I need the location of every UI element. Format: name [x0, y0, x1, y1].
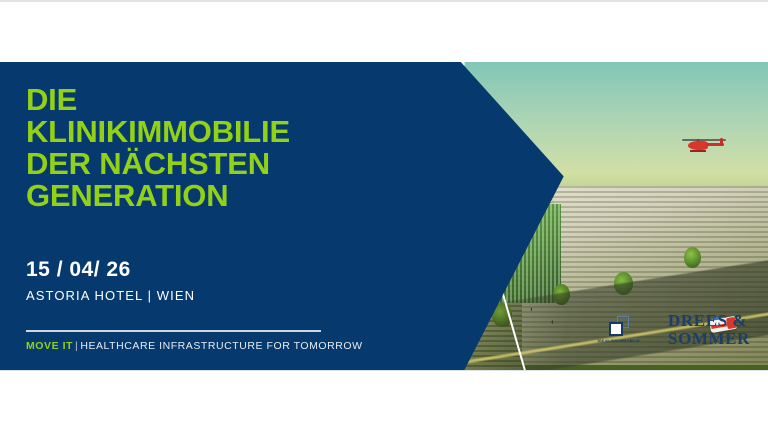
- tree: [684, 247, 701, 268]
- square-outline-front: [609, 322, 623, 336]
- logo-group: DIE KLINIKIMMOBILIE DREES & SOMMER: [598, 312, 750, 347]
- tagline-text: HEALTHCARE INFRASTRUCTURE FOR TOMORROW: [80, 340, 362, 352]
- logo-drees-and-sommer[interactable]: DREES & SOMMER: [668, 312, 750, 347]
- tagline: MOVE IT|HEALTHCARE INFRASTRUCTURE FOR TO…: [26, 340, 363, 352]
- tagline-separator: |: [75, 340, 78, 352]
- logo-die-klinikimmobilie[interactable]: DIE KLINIKIMMOBILIE: [598, 316, 640, 343]
- tagline-divider: [26, 330, 321, 332]
- page-title: DIE KLINIKIMMOBILIE DER NÄCHSTEN GENERAT…: [26, 84, 290, 212]
- bottom-divider: [0, 370, 768, 371]
- helicopter-body: [688, 141, 708, 150]
- event-date: 15 / 04/ 26: [26, 258, 131, 282]
- logo-klinik-label: DIE KLINIKIMMOBILIE: [598, 339, 640, 343]
- tagline-highlight: MOVE IT: [26, 340, 73, 352]
- helicopter-icon: [682, 133, 726, 155]
- event-venue: ASTORIA HOTEL | WIEN: [26, 288, 195, 303]
- squares-icon: [609, 316, 629, 336]
- helicopter-fin: [720, 138, 723, 146]
- event-banner: HOSPITAL: [0, 0, 768, 432]
- top-divider: [0, 0, 768, 2]
- helicopter-skid: [690, 150, 706, 152]
